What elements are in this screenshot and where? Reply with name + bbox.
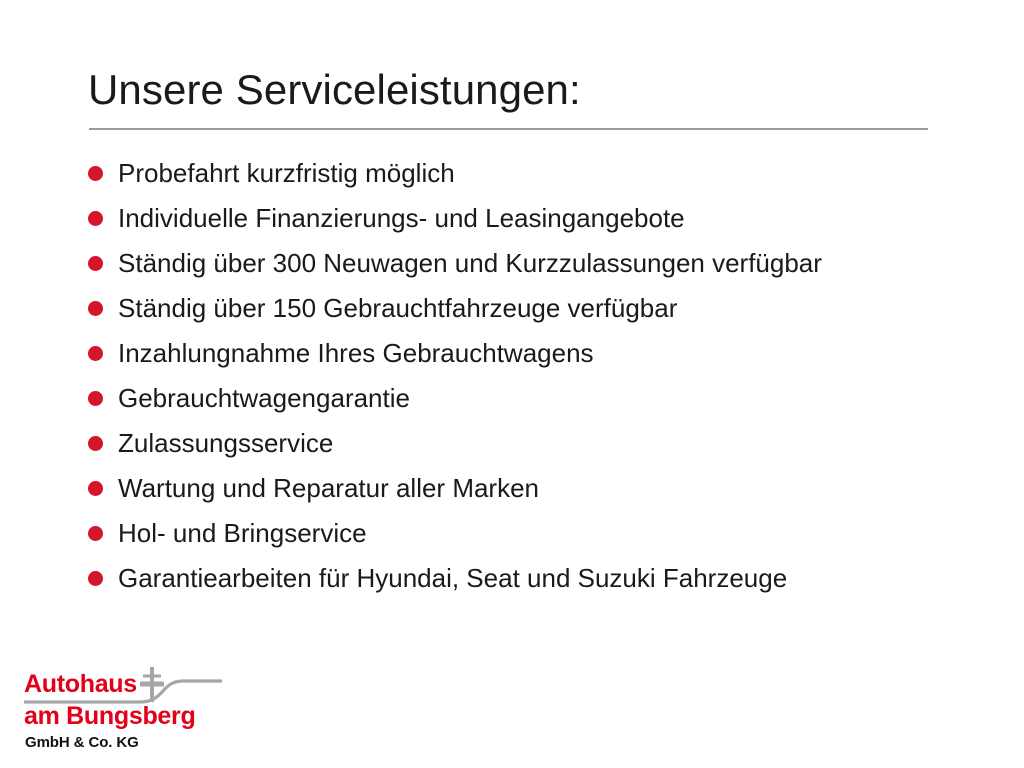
title-divider: [89, 128, 928, 130]
bullet-dot-icon: [88, 391, 103, 406]
service-list: Probefahrt kurzfristig möglich Individue…: [88, 150, 968, 600]
list-item: Probefahrt kurzfristig möglich: [88, 150, 968, 195]
list-item: Inzahlungnahme Ihres Gebrauchtwagens: [88, 330, 968, 375]
logo-line-autohaus: Autohaus: [24, 671, 137, 698]
bullet-dot-icon: [88, 211, 103, 226]
bullet-dot-icon: [88, 571, 103, 586]
list-item-label: Gebrauchtwagengarantie: [118, 383, 410, 413]
list-item-label: Ständig über 300 Neuwagen und Kurzzulass…: [118, 248, 822, 278]
list-item: Hol- und Bringservice: [88, 510, 968, 555]
list-item-label: Probefahrt kurzfristig möglich: [118, 158, 455, 188]
list-item-label: Individuelle Finanzierungs- und Leasinga…: [118, 203, 685, 233]
list-item-label: Zulassungsservice: [118, 428, 333, 458]
bullet-dot-icon: [88, 481, 103, 496]
page-title: Unsere Serviceleistungen:: [88, 64, 581, 116]
list-item: Ständig über 150 Gebrauchtfahrzeuge verf…: [88, 285, 968, 330]
bullet-dot-icon: [88, 436, 103, 451]
bullet-dot-icon: [88, 301, 103, 316]
slide-canvas: Unsere Serviceleistungen: Probefahrt kur…: [0, 0, 1024, 768]
bullet-dot-icon: [88, 166, 103, 181]
list-item: Ständig über 300 Neuwagen und Kurzzulass…: [88, 240, 968, 285]
bullet-dot-icon: [88, 346, 103, 361]
list-item-label: Ständig über 150 Gebrauchtfahrzeuge verf…: [118, 293, 677, 323]
list-item: Individuelle Finanzierungs- und Leasinga…: [88, 195, 968, 240]
list-item: Zulassungsservice: [88, 420, 968, 465]
logo-legal-form: GmbH & Co. KG: [25, 734, 139, 752]
list-item: Wartung und Reparatur aller Marken: [88, 465, 968, 510]
bullet-dot-icon: [88, 256, 103, 271]
list-item: Garantiearbeiten für Hyundai, Seat und S…: [88, 555, 968, 600]
list-item: Gebrauchtwagengarantie: [88, 375, 968, 420]
logo-line-am-bungsberg: am Bungsberg: [24, 703, 195, 730]
bullet-dot-icon: [88, 526, 103, 541]
company-logo: Autohaus am Bungsberg GmbH & Co. KG: [22, 665, 252, 760]
list-item-label: Wartung und Reparatur aller Marken: [118, 473, 539, 503]
list-item-label: Hol- und Bringservice: [118, 518, 367, 548]
list-item-label: Inzahlungnahme Ihres Gebrauchtwagens: [118, 338, 594, 368]
list-item-label: Garantiearbeiten für Hyundai, Seat und S…: [118, 563, 787, 593]
